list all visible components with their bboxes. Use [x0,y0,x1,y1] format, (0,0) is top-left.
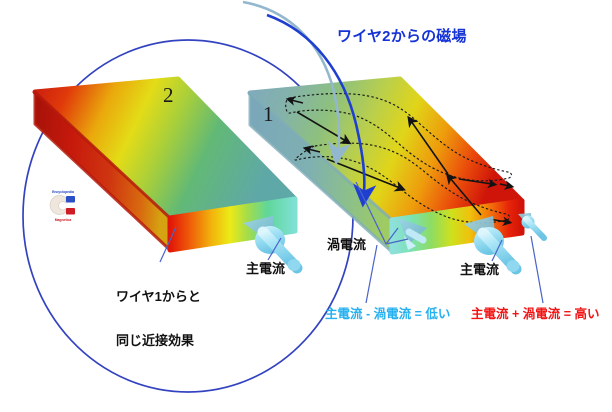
label-proximity-effect: ワイヤ1からと 同じ近接効果 [116,261,201,377]
figure-canvas: Encyclopedia Magnetica ワイヤ2からの磁場 2 1 渦電流… [0,0,612,412]
encyclopedia-magnetica-logo: Encyclopedia Magnetica [47,186,79,223]
label-eddy-current: 渦電流 [327,238,366,253]
label-high-current-region: 主電流 + 渦電流 = 高い [471,307,600,321]
label-proximity-effect-line1: ワイヤ1からと [116,290,201,305]
label-main-current-left: 主電流 [246,262,285,277]
svg-text:Encyclopedia: Encyclopedia [52,190,74,194]
label-low-current-region: 主電流 - 渦電流 = 低い [325,307,450,321]
callout-high [531,236,543,303]
bar-1-number: 1 [263,103,274,127]
label-proximity-effect-line2: 同じ近接効果 [116,334,201,349]
label-main-current-right: 主電流 [460,263,499,278]
callout-low [366,245,377,303]
page-title: ワイヤ2からの磁場 [337,29,467,46]
diagram-artwork: Encyclopedia Magnetica [0,0,612,412]
svg-text:Magnetica: Magnetica [55,218,72,222]
bar-2-number: 2 [163,84,174,108]
